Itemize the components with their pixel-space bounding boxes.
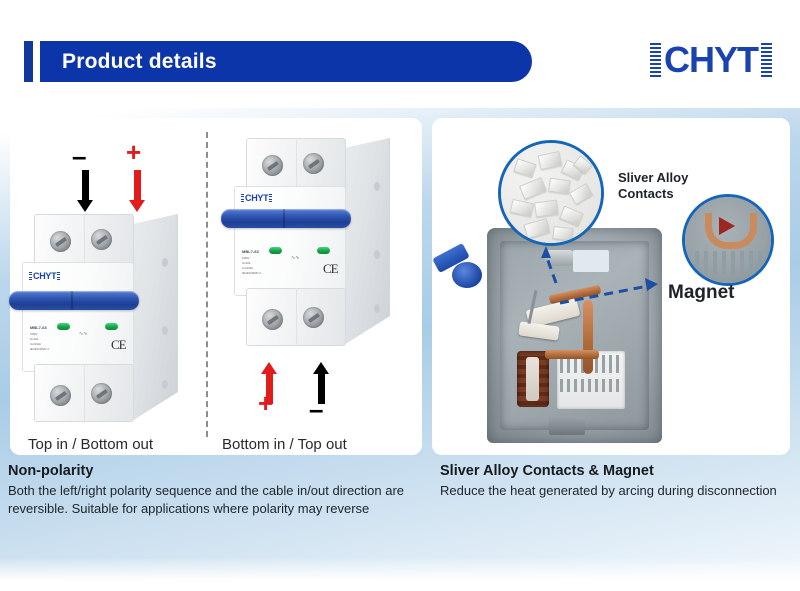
terminal-screw [303,307,324,328]
polarity-sign-minus-bottom-right: – [309,396,323,422]
breaker-standard-text-1: IEC/EN 60947-2 [30,348,49,351]
polarity-sign-plus-top-right: + [126,139,141,165]
header-banner: Product details [40,41,532,82]
trip-curve-symbol: ∿∿ [291,255,299,261]
breaker-side-face-1 [132,214,178,421]
callout-leader-lines [432,118,790,455]
logo-text: CHYT [664,43,758,77]
logo-left-bars-icon [241,194,244,202]
left-product-card: – + [10,118,422,455]
breaker-brand-text: CHYT [33,271,56,281]
side-notch [374,250,380,259]
breaker-front-face-2: CHYT MBL7-63 1000V In=40A Icu=10kA IEC/E… [234,186,346,296]
caption-title: Non-polarity [8,463,433,479]
terminal-screw [262,309,283,330]
ce-mark-1: CE [111,337,126,353]
breaker-current-text-2: In=40A [242,262,250,265]
panel-divider [206,132,208,437]
page-title: Product details [62,50,217,74]
logo-left-bars-icon [650,43,661,77]
breaker-brand-logo-1: CHYT [29,271,60,281]
breaker-brand-text: CHYT [245,193,268,203]
logo-right-bars-icon [57,272,60,280]
page-header: Product details CHYT [0,0,800,108]
pole-seam [84,364,85,422]
breaker-voltage-text-1: 1000V [30,333,38,336]
caption-body: Both the left/right polarity sequence an… [8,482,433,517]
logo-right-bars-icon [269,194,272,202]
terminal-screw [91,229,112,250]
pole-seam [296,288,297,346]
breaker-current-text-1: In=40A [30,338,38,341]
logo-right-bars-icon [761,43,772,77]
status-led [105,323,118,330]
status-led [57,323,70,330]
status-led [269,247,282,254]
side-notch [162,258,168,267]
product-details-slide: Product details CHYT – + [0,0,800,591]
polarity-sign-plus-bottom-left: + [258,390,273,416]
side-notch [374,304,380,313]
status-led [317,247,330,254]
breaker-model-text-1: MBL7-63 [30,325,47,330]
breaker-side-face-2 [344,138,390,345]
logo-left-bars-icon [29,272,32,280]
breaker-breaking-text-1: Icu=10kA [30,343,41,346]
header-accent-bar [24,41,33,82]
side-notch [374,182,380,191]
circuit-breaker-top-in: CHYT MBL7-63 1000V In=40A Icu=10kA IEC/E… [10,214,200,429]
breaker-breaking-text-2: Icu=10kA [242,267,253,270]
chyt-logo: CHYT [650,40,772,80]
breaker-toggle-2[interactable] [221,209,351,228]
trip-curve-symbol: ∿∿ [79,331,87,337]
breaker-model-text-2: MBL7-63 [242,249,259,254]
caption-body: Reduce the heat generated by arcing duri… [440,482,790,500]
caption-top-in-bottom-out: Top in / Bottom out [28,436,153,453]
terminal-screw [50,231,71,252]
caption-title: Sliver Alloy Contacts & Magnet [440,463,790,479]
terminal-screw [262,155,283,176]
side-notch [162,380,168,389]
right-product-card: Sliver Alloy Contacts Magnet [432,118,790,455]
breaker-toggle-1[interactable] [9,291,139,310]
side-notch [162,326,168,335]
breaker-standard-text-2: IEC/EN 60947-2 [242,272,261,275]
caption-sliver-alloy-magnet: Sliver Alloy Contacts & Magnet Reduce th… [440,463,790,500]
breaker-front-face-1: CHYT MBL7-63 1000V In=40A Icu=10kA IEC/E… [22,262,134,372]
caption-non-polarity: Non-polarity Both the left/right polarit… [8,463,433,517]
terminal-screw [91,383,112,404]
breaker-brand-logo-2: CHYT [241,193,272,203]
caption-bottom-in-top-out: Bottom in / Top out [222,436,347,453]
polarity-sign-minus-top-left: – [72,143,86,169]
circuit-breaker-bottom-in: CHYT MBL7-63 1000V In=40A Icu=10kA IEC/E… [222,138,412,353]
breaker-voltage-text-2: 1000V [242,257,250,260]
terminal-screw [303,153,324,174]
ce-mark-2: CE [323,261,338,277]
terminal-screw [50,385,71,406]
